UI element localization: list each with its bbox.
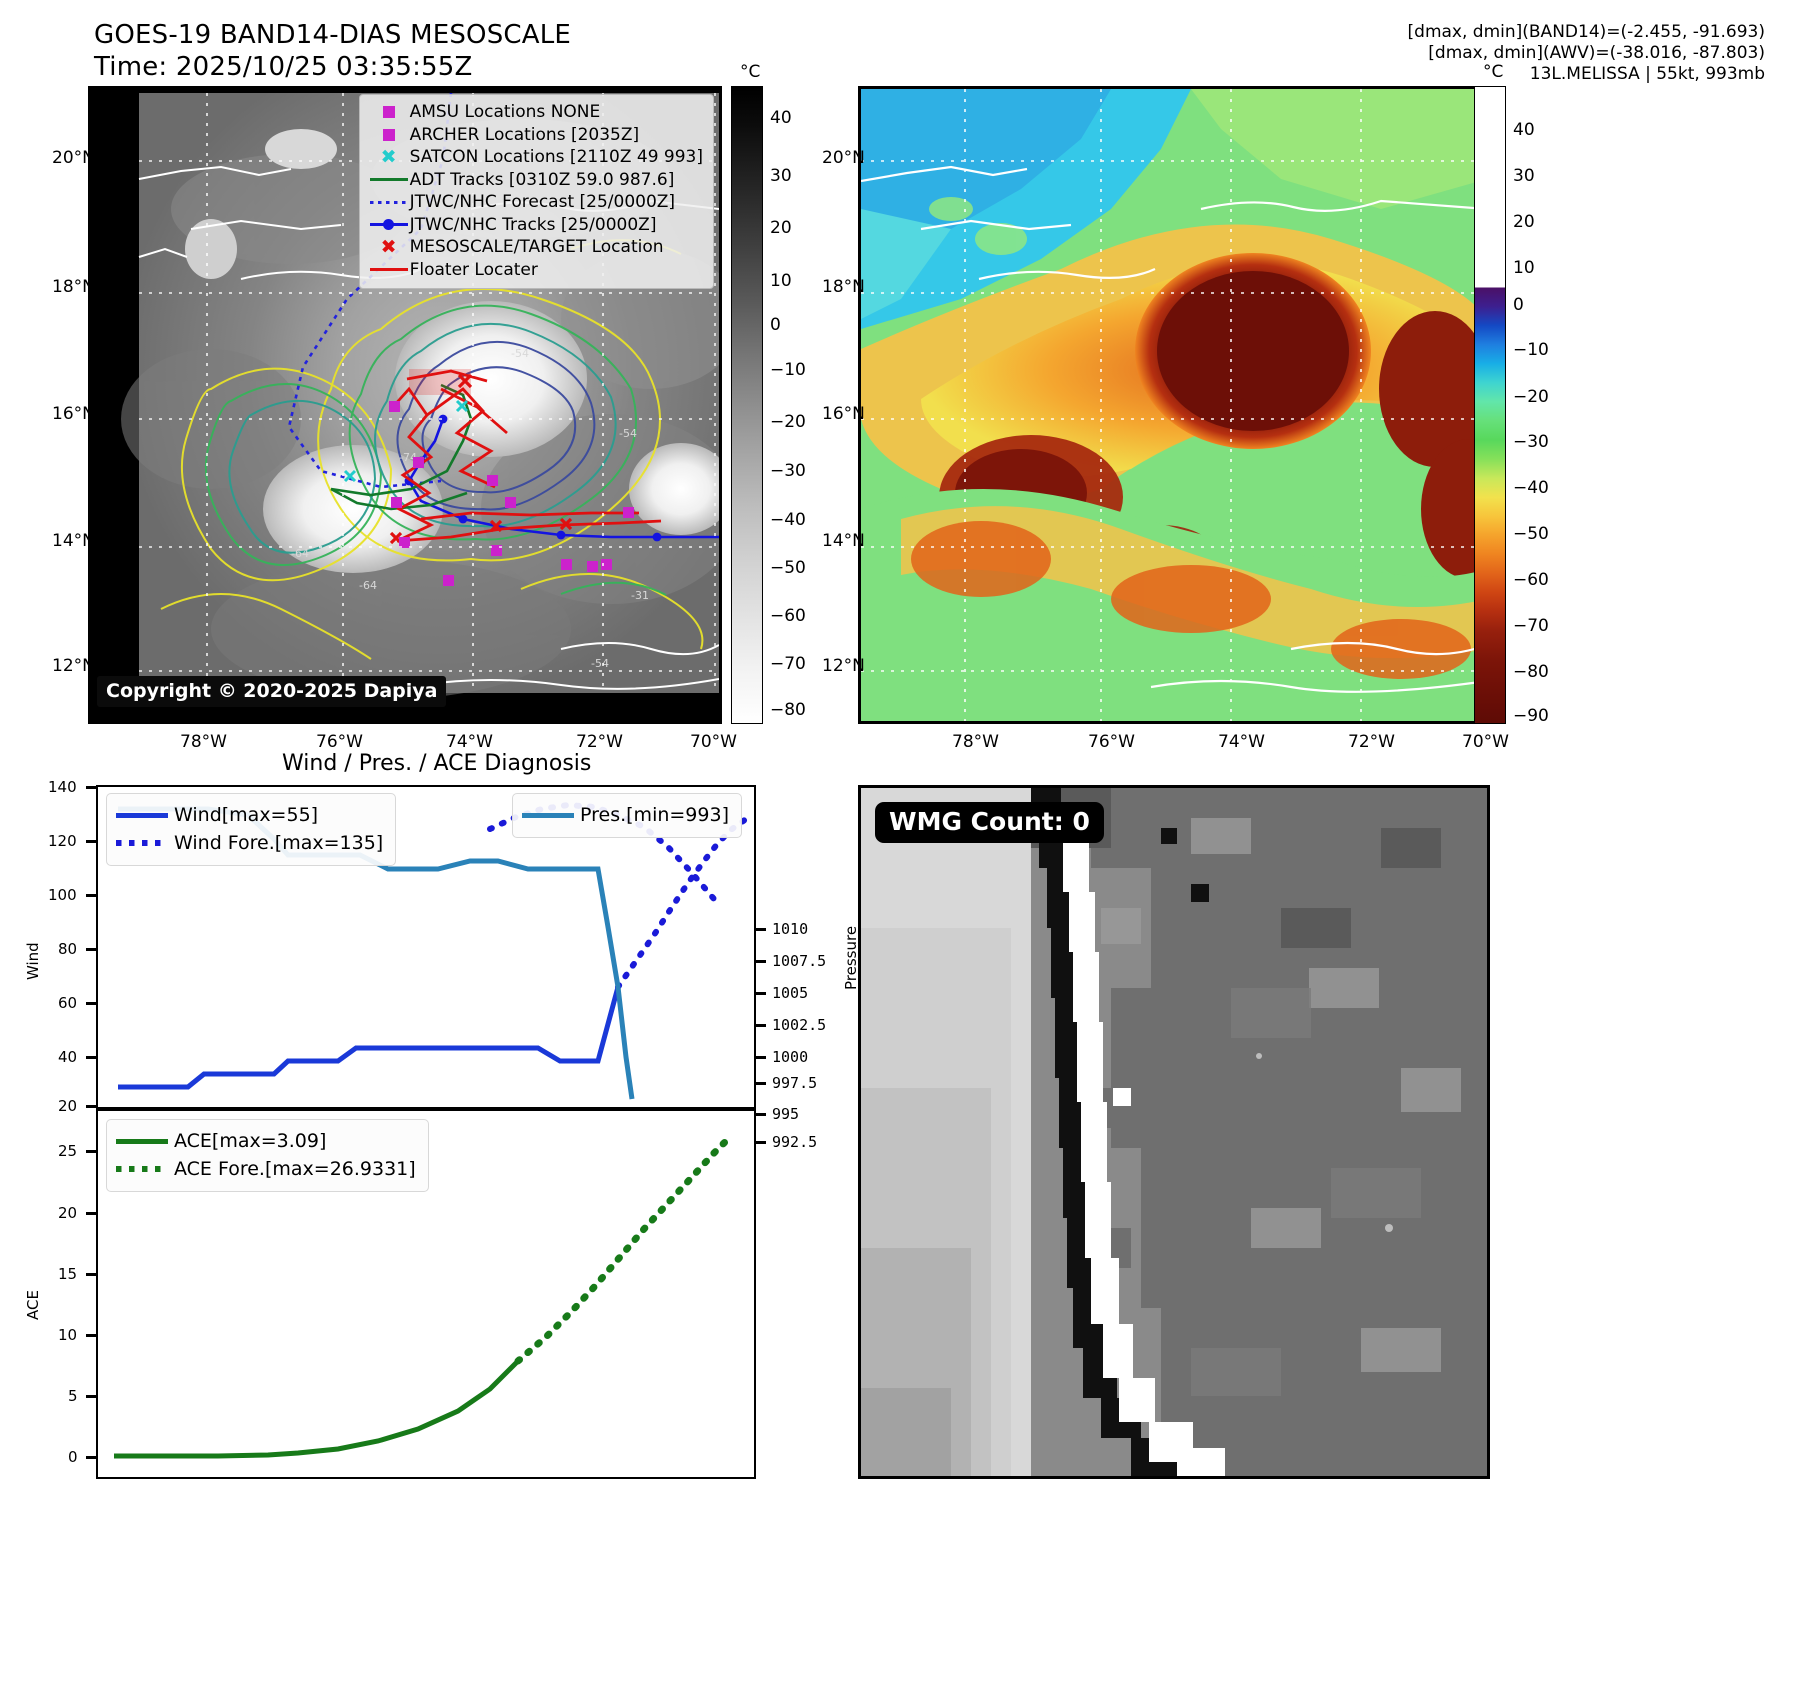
awv-cb-tick-4: 0 — [1513, 295, 1524, 315]
wind-pressure-chart[interactable]: Wind[max=55] Wind Fore.[max=135] Pres.[m… — [96, 785, 756, 1109]
ir-cb-tick-4: 0 — [770, 315, 781, 335]
awv-lon-tick-78w: 78°W — [952, 732, 999, 752]
awv-cb-tick-0: 40 — [1513, 120, 1535, 140]
header-storm-summary: 13L.MELISSA | 55kt, 993mb — [1125, 62, 1765, 87]
ir-lat-tick-14n: 14°N — [52, 531, 95, 551]
adt-line-icon — [368, 178, 410, 181]
svg-text:-54: -54 — [591, 657, 609, 670]
ir-map-legend: AMSU Locations NONE ARCHER Locations [20… — [359, 94, 714, 289]
ace-chart[interactable]: ACE[max=3.09] ACE Fore.[max=26.9331] — [96, 1109, 756, 1479]
pres-tick — [756, 1056, 766, 1059]
ir-cb-tick-2: 20 — [770, 218, 792, 238]
ir-cb-tick-6: −20 — [770, 412, 806, 432]
wind-tick — [86, 786, 96, 789]
awv-colorbar-unit: °C — [1483, 62, 1503, 82]
ace-ytick-10: 10 — [58, 1326, 77, 1344]
legend-label: ARCHER Locations [2035Z] — [410, 125, 640, 145]
legend-label: JTWC/NHC Forecast [25/0000Z] — [410, 192, 675, 212]
pres-tick — [756, 992, 766, 995]
jtwc-forecast-dotted-icon — [368, 201, 410, 204]
pres-ytick-1002: 1002.5 — [772, 1016, 826, 1034]
pres-ytick-997: 997.5 — [772, 1074, 817, 1092]
svg-text:-31: -31 — [631, 589, 649, 602]
pres-ytick-1010: 1010 — [772, 920, 808, 938]
ace-forecast-dotted-icon — [116, 1166, 174, 1172]
awv-lon-tick-74w: 74°W — [1218, 732, 1265, 752]
pres-ytick-992: 992.5 — [772, 1133, 817, 1151]
pres-tick — [756, 928, 766, 931]
awv-panel[interactable] — [858, 86, 1490, 724]
archer-square-icon — [368, 129, 410, 141]
wind-axis-label: Wind — [24, 942, 42, 980]
wind-ytick-40: 40 — [58, 1048, 77, 1066]
legend-label: Floater Locater — [410, 260, 538, 280]
awv-cb-tick-1: 30 — [1513, 166, 1535, 186]
legend-label: MESOSCALE/TARGET Location — [410, 237, 664, 257]
ace-tick — [86, 1150, 96, 1153]
awv-lon-tick-72w: 72°W — [1348, 732, 1395, 752]
wind-forecast-legend-label: Wind Fore.[max=135] — [174, 832, 383, 854]
wind-ytick-80: 80 — [58, 940, 77, 958]
ir-cb-tick-10: −60 — [770, 606, 806, 626]
legend-item-adt-tracks: ADT Tracks [0310Z 59.0 987.6] — [368, 169, 703, 192]
wind-legend-item-observed: Wind[max=55] — [116, 801, 383, 829]
ace-ytick-20: 20 — [58, 1204, 77, 1222]
copyright-notice: Copyright © 2020-2025 Dapiya — [97, 676, 446, 707]
legend-item-amsu: AMSU Locations NONE — [368, 101, 703, 124]
pres-ytick-995: 995 — [772, 1105, 799, 1123]
satcon-cross-icon: ✖ — [368, 148, 410, 167]
ir-colorbar — [731, 86, 763, 724]
legend-label: AMSU Locations NONE — [410, 102, 601, 122]
awv-lat-tick-20n: 20°N — [822, 148, 865, 168]
ace-legend: ACE[max=3.09] ACE Fore.[max=26.9331] — [106, 1119, 429, 1192]
page-title-line1: GOES-19 BAND14-DIAS MESOSCALE — [94, 20, 571, 50]
ir-colorbar-unit: °C — [740, 62, 760, 82]
awv-cb-tick-13: −90 — [1513, 706, 1549, 726]
awv-cb-tick-9: −50 — [1513, 524, 1549, 544]
wind-ytick-60: 60 — [58, 994, 77, 1012]
wind-tick — [86, 1002, 96, 1005]
wind-ytick-140: 140 — [48, 778, 77, 796]
pressure-line-icon — [522, 813, 580, 818]
awv-cb-tick-12: −80 — [1513, 662, 1549, 682]
ace-tick — [86, 1212, 96, 1215]
wind-legend: Wind[max=55] Wind Fore.[max=135] — [106, 793, 396, 866]
awv-cb-tick-2: 20 — [1513, 212, 1535, 232]
wind-legend-label: Wind[max=55] — [174, 804, 318, 826]
awv-cb-tick-11: −70 — [1513, 616, 1549, 636]
awv-cb-tick-10: −60 — [1513, 570, 1549, 590]
wind-tick — [86, 894, 96, 897]
awv-cb-tick-5: −10 — [1513, 340, 1549, 360]
ir-cb-tick-7: −30 — [770, 461, 806, 481]
svg-text:-64: -64 — [291, 547, 309, 560]
ir-lat-tick-18n: 18°N — [52, 277, 95, 297]
ace-tick — [86, 1273, 96, 1276]
page-title-line2: Time: 2025/10/25 03:35:55Z — [94, 52, 473, 82]
wmg-image — [861, 788, 1487, 1476]
pres-tick — [756, 960, 766, 963]
wind-tick — [86, 840, 96, 843]
wind-forecast-dotted-icon — [116, 840, 174, 846]
wmg-count-badge: WMG Count: 0 — [875, 802, 1104, 843]
ir-cb-tick-9: −50 — [770, 558, 806, 578]
ir-lon-tick-74w: 74°W — [446, 732, 493, 752]
awv-lat-tick-18n: 18°N — [822, 277, 865, 297]
pres-tick — [756, 1141, 766, 1144]
ir-cb-tick-12: −80 — [770, 700, 806, 720]
ace-ytick-15: 15 — [58, 1265, 77, 1283]
mesoscale-cross-icon: ✖ — [368, 238, 410, 257]
wind-legend-item-forecast: Wind Fore.[max=135] — [116, 829, 383, 857]
diagnosis-chart-title: Wind / Pres. / ACE Diagnosis — [282, 751, 591, 776]
legend-item-jtwc-forecast: JTWC/NHC Forecast [25/0000Z] — [368, 191, 703, 214]
awv-cb-tick-6: −20 — [1513, 387, 1549, 407]
ace-forecast-legend-label: ACE Fore.[max=26.9331] — [174, 1158, 416, 1180]
wind-ytick-100: 100 — [48, 886, 77, 904]
awv-lat-tick-16n: 16°N — [822, 404, 865, 424]
ir-lon-tick-70w: 70°W — [690, 732, 737, 752]
pres-ytick-1007: 1007.5 — [772, 952, 826, 970]
ace-ytick-5: 5 — [68, 1387, 78, 1405]
ir-lon-tick-76w: 76°W — [316, 732, 363, 752]
ir-lon-tick-78w: 78°W — [180, 732, 227, 752]
wind-ytick-20: 20 — [58, 1097, 77, 1115]
awv-cb-tick-3: 10 — [1513, 258, 1535, 278]
ir-cb-tick-1: 30 — [770, 166, 792, 186]
wind-tick — [86, 1056, 96, 1059]
ace-ytick-25: 25 — [58, 1142, 77, 1160]
ir-lat-tick-16n: 16°N — [52, 404, 95, 424]
legend-item-floater-locater: Floater Locater — [368, 259, 703, 282]
awv-lat-tick-14n: 14°N — [822, 531, 865, 551]
wmg-panel[interactable]: WMG Count: 0 — [858, 785, 1490, 1479]
pres-tick — [756, 1024, 766, 1027]
legend-label: JTWC/NHC Tracks [25/0000Z] — [410, 215, 657, 235]
ir-band14-panel[interactable]: -54-54 -64-64 -31-54 -74 — [88, 86, 722, 724]
pressure-legend-item: Pres.[min=993] — [522, 801, 729, 829]
awv-lon-tick-76w: 76°W — [1088, 732, 1135, 752]
wind-ytick-120: 120 — [48, 832, 77, 850]
jtwc-track-line-marker-icon — [368, 223, 410, 226]
ir-lat-tick-20n: 20°N — [52, 148, 95, 168]
legend-item-archer: ARCHER Locations [2035Z] — [368, 124, 703, 147]
ir-cb-tick-11: −70 — [770, 654, 806, 674]
awv-cb-tick-7: −30 — [1513, 432, 1549, 452]
wind-line-icon — [116, 813, 174, 818]
awv-lat-tick-12n: 12°N — [822, 656, 865, 676]
ace-tick — [86, 1456, 96, 1459]
awv-colorbar — [1474, 86, 1506, 724]
ace-axis-label: ACE — [24, 1290, 42, 1320]
dashboard-root: GOES-19 BAND14-DIAS MESOSCALE Time: 2025… — [0, 0, 1797, 1690]
ace-tick — [86, 1334, 96, 1337]
pres-tick — [756, 1113, 766, 1116]
floater-line-icon — [368, 268, 410, 271]
pres-tick — [756, 1082, 766, 1085]
svg-text:-54: -54 — [619, 427, 637, 440]
amsu-square-icon — [368, 106, 410, 118]
ace-legend-label: ACE[max=3.09] — [174, 1130, 326, 1152]
ir-cb-tick-5: −10 — [770, 360, 806, 380]
legend-item-jtwc-tracks: JTWC/NHC Tracks [25/0000Z] — [368, 214, 703, 237]
ir-lat-tick-12n: 12°N — [52, 656, 95, 676]
ace-ytick-0: 0 — [68, 1448, 78, 1466]
awv-cb-tick-8: −40 — [1513, 478, 1549, 498]
legend-item-mesoscale-target: ✖ MESOSCALE/TARGET Location — [368, 236, 703, 259]
awv-image — [861, 89, 1487, 721]
ace-legend-item-forecast: ACE Fore.[max=26.9331] — [116, 1155, 416, 1183]
pres-ytick-1005: 1005 — [772, 984, 808, 1002]
ace-line-icon — [116, 1139, 174, 1144]
ir-cb-tick-0: 40 — [770, 108, 792, 128]
ir-lon-tick-72w: 72°W — [576, 732, 623, 752]
pressure-legend-label: Pres.[min=993] — [580, 804, 729, 826]
legend-label: ADT Tracks [0310Z 59.0 987.6] — [410, 170, 675, 190]
legend-label: SATCON Locations [2110Z 49 993] — [410, 147, 703, 167]
svg-text:-54: -54 — [511, 347, 529, 360]
svg-text:-64: -64 — [359, 579, 377, 592]
awv-lon-tick-70w: 70°W — [1462, 732, 1509, 752]
wind-tick — [86, 1105, 96, 1108]
ir-cb-tick-8: −40 — [770, 510, 806, 530]
ace-tick — [86, 1395, 96, 1398]
pressure-legend: Pres.[min=993] — [512, 793, 742, 838]
legend-item-satcon: ✖ SATCON Locations [2110Z 49 993] — [368, 146, 703, 169]
wind-tick — [86, 948, 96, 951]
pres-ytick-1000: 1000 — [772, 1048, 808, 1066]
ir-cb-tick-3: 10 — [770, 271, 792, 291]
ace-legend-item-observed: ACE[max=3.09] — [116, 1127, 416, 1155]
